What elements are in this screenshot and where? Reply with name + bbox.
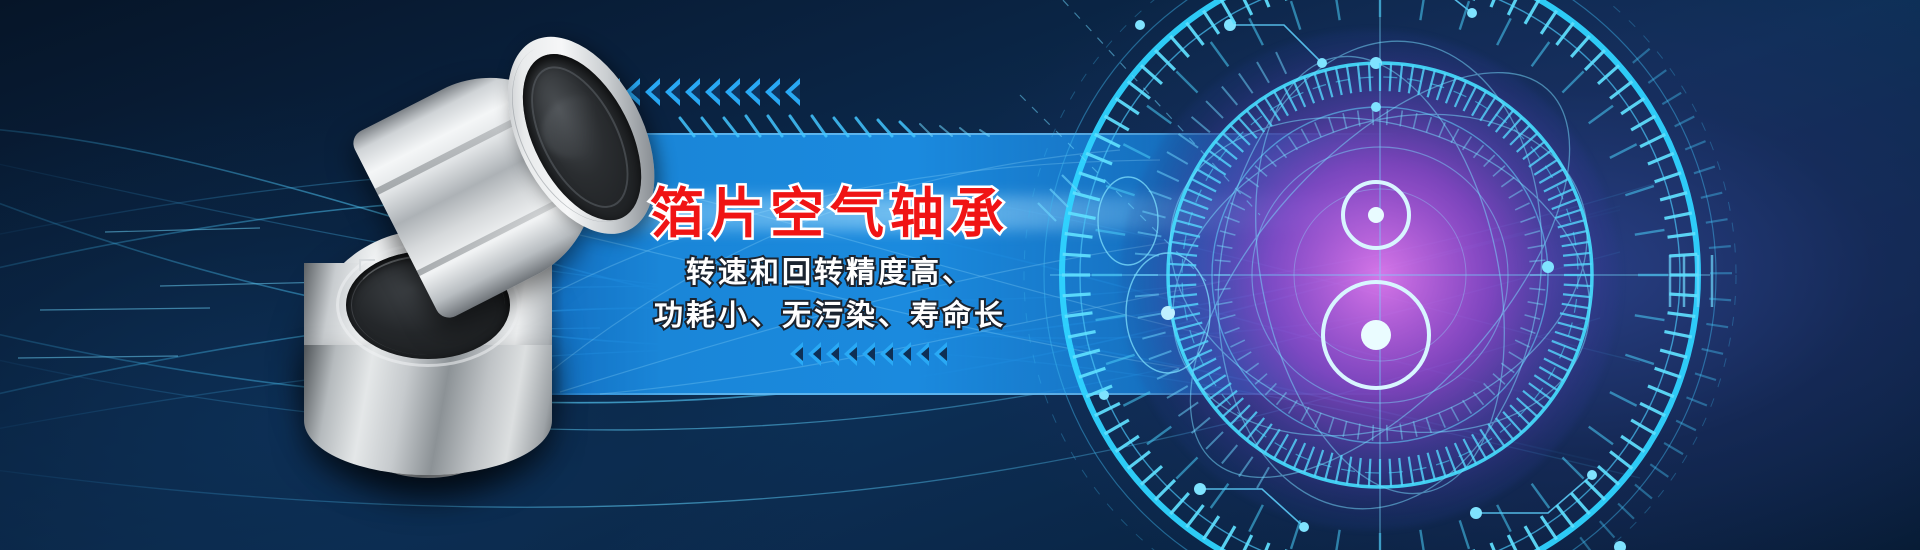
bearing-foil-tab [359, 259, 375, 271]
chevron-left-icon [898, 342, 911, 366]
chevron-left-icon [790, 342, 803, 366]
hero-banner: OR JI 34-24-20002-10 箔片空气轴承 转速和回转精度高、 功耗… [0, 0, 1920, 550]
chevron-left-icon [705, 78, 720, 106]
chevron-left-icon [785, 78, 800, 106]
foil-air-bearing-photo: OR JI 34-24-20002-10 [290, 55, 630, 455]
chevron-left-icon [765, 78, 780, 106]
chevron-left-icon [826, 342, 839, 366]
chevron-left-icon [808, 342, 821, 366]
hud-tick-rings [1000, 0, 1760, 550]
chevron-left-icon [862, 342, 875, 366]
chevron-left-icon [880, 342, 893, 366]
chevron-row-bottom [790, 342, 952, 366]
chevron-left-icon [725, 78, 740, 106]
chevron-left-icon [916, 342, 929, 366]
subtitle-line-2: 功耗小、无污染、寿命长 [620, 296, 1040, 337]
chevron-left-icon [645, 78, 660, 106]
chevron-left-icon [745, 78, 760, 106]
chevron-left-icon [665, 78, 680, 106]
chevron-left-icon [934, 342, 947, 366]
page-title: 箔片空气轴承 [620, 186, 1040, 243]
subtitle-line-1: 转速和回转精度高、 [620, 253, 1040, 294]
banner-text-block: 箔片空气轴承 转速和回转精度高、 功耗小、无污染、寿命长 [620, 186, 1040, 337]
chevron-left-icon [685, 78, 700, 106]
chevron-left-icon [844, 342, 857, 366]
